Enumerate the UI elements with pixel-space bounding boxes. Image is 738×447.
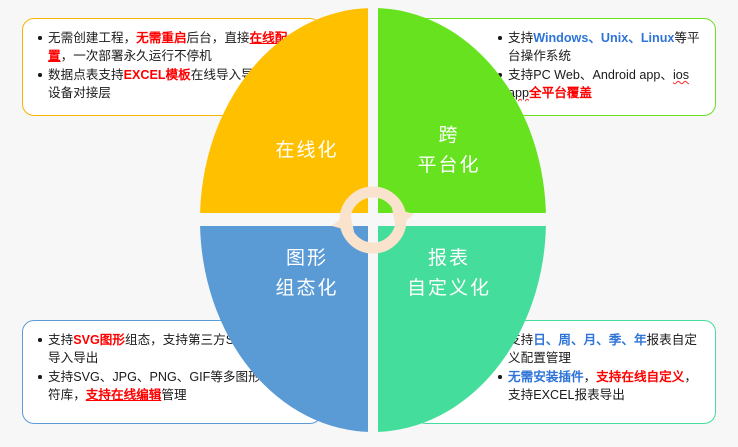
- text-run: 支持: [508, 31, 533, 45]
- list-item: 支持Windows、Unix、Linux等平台操作系统: [495, 29, 705, 65]
- callout-bottom-left-bullets: 支持SVG图形组态，支持第三方SVG标准图形导入导出 支持SVG、JPG、PNG…: [31, 331, 311, 404]
- callout-top-left-bullets: 无需创建工程，无需重启后台，直接在线配置，一次部署永久运行不停机 数据点表支持E…: [31, 29, 311, 102]
- text-run: SVG图形: [73, 333, 125, 347]
- wheel-label-platform: 跨 平台化: [390, 121, 508, 181]
- text-run: 支持在线自定义: [596, 370, 684, 384]
- text-run: 日、周、月、季、年: [533, 333, 646, 347]
- list-item: 支持SVG图形组态，支持第三方SVG标准图形导入导出: [35, 331, 311, 367]
- wheel-label-graphics: 图形 组态化: [248, 244, 366, 304]
- wheel-label-online: 在线化: [248, 136, 366, 166]
- text-run: 无需安装插件: [508, 370, 584, 384]
- callout-top-right-bullets: 支持Windows、Unix、Linux等平台操作系统 支持PC Web、And…: [423, 29, 705, 102]
- text-run: 管理: [161, 388, 186, 402]
- list-item: 支持SVG、JPG、PNG、GIF等多图形格式图符库，支持在线编辑管理: [35, 368, 311, 404]
- text-run: 支持: [48, 333, 73, 347]
- text-run: ，: [584, 370, 597, 384]
- circular-refresh-arrows-icon: [332, 192, 414, 248]
- callout-bottom-left: 支持SVG图形组态，支持第三方SVG标准图形导入导出 支持SVG、JPG、PNG…: [22, 320, 322, 424]
- list-item: 支持日、周、月、季、年报表自定义配置管理: [495, 331, 705, 367]
- text-run: EXCEL模板: [124, 68, 191, 82]
- callout-top-right: 支持Windows、Unix、Linux等平台操作系统 支持PC Web、And…: [414, 18, 716, 116]
- text-run: 后台，直接: [187, 31, 250, 45]
- text-run: 支持在线编辑: [86, 388, 162, 402]
- list-item: 数据点表支持EXCEL模板在线导入导出，简化设备对接层: [35, 66, 311, 102]
- list-item: 无需安装插件，支持在线自定义，支持EXCEL报表导出: [495, 368, 705, 404]
- text-run: 数据点表支持: [48, 68, 124, 82]
- text-run: 支持PC Web、Android app、: [508, 68, 673, 82]
- callout-bottom-right-bullets: 支持日、周、月、季、年报表自定义配置管理 无需安装插件，支持在线自定义，支持EX…: [423, 331, 705, 404]
- list-item: 支持PC Web、Android app、ios app全平台覆盖: [495, 66, 705, 102]
- text-run: ，一次部署永久运行不停机: [61, 49, 212, 63]
- wheel-label-reports: 报表 自定义化: [390, 244, 508, 304]
- text-run: 无需重启: [136, 31, 186, 45]
- infographic-canvas: 无需创建工程，无需重启后台，直接在线配置，一次部署永久运行不停机 数据点表支持E…: [0, 0, 738, 447]
- list-item: 无需创建工程，无需重启后台，直接在线配置，一次部署永久运行不停机: [35, 29, 311, 65]
- text-run: 支持: [508, 333, 533, 347]
- text-run: Windows、Unix、Linux: [533, 31, 674, 45]
- text-run: 全平台覆盖: [529, 86, 592, 100]
- callout-top-left: 无需创建工程，无需重启后台，直接在线配置，一次部署永久运行不停机 数据点表支持E…: [22, 18, 322, 116]
- callout-bottom-right: 支持日、周、月、季、年报表自定义配置管理 无需安装插件，支持在线自定义，支持EX…: [414, 320, 716, 424]
- text-run: 无需创建工程，: [48, 31, 136, 45]
